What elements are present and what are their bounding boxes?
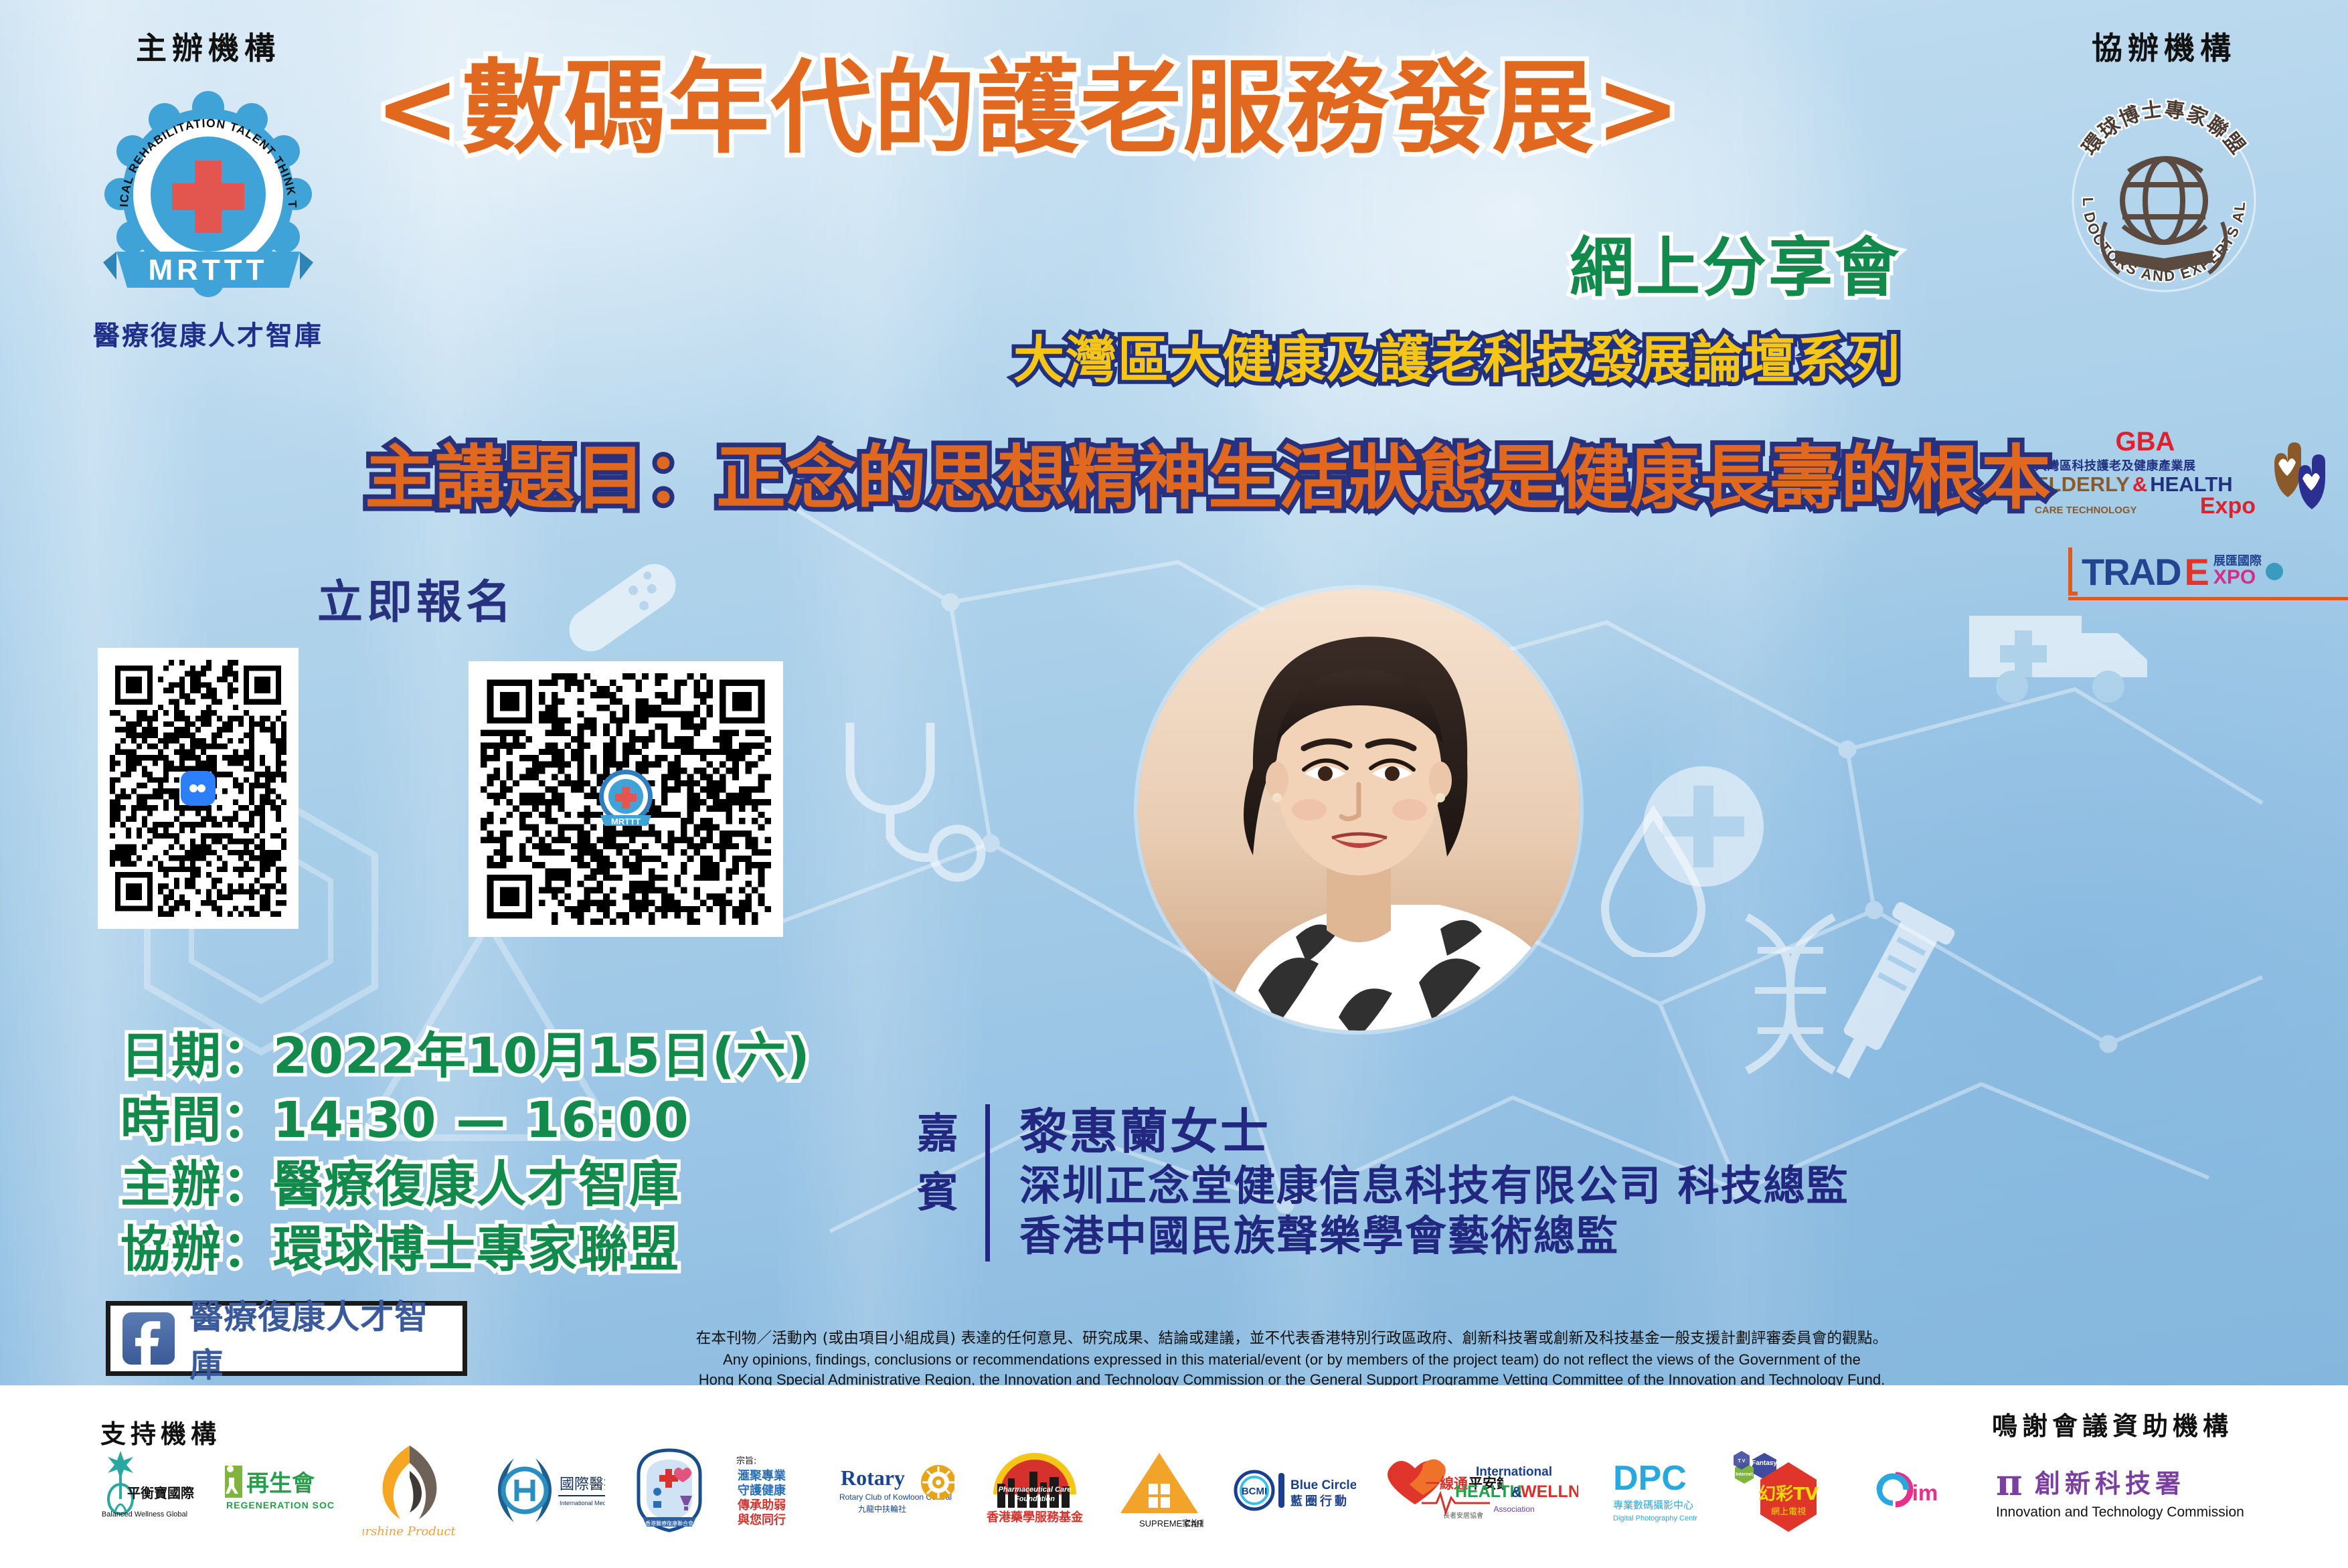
poster-topic-line: 主講題目：正念的思想精神生活狀態是健康長壽的根本 [201,443,2215,513]
fantasy-cn2: 網上電視 [1771,1507,1806,1517]
ambulance-icon [1961,589,2155,709]
speaker-tag-char-1: 嘉 [917,1104,960,1163]
logo-fantasy-tv: Fantasy Internet T V 幻彩TV 網上電視 [1730,1440,1835,1541]
dpc-abbr: DPC [1613,1459,1687,1498]
ihw-assoc: Association [1493,1504,1534,1514]
event-info-block: 日期：2022年10月15日(六) 時間：14:30 — 16:00 主辦：醫療… [120,1024,811,1282]
bcm-cn: 藍圈行動 [1290,1494,1349,1508]
svg-text:宗旨:: 宗旨: [736,1456,756,1466]
svg-text:Pharmaceutical Care: Pharmaceutical Care [999,1486,1072,1494]
support-logo-row: 平衡寶國際 Balanced Wellness Global 再生會 REGEN… [94,1440,1503,1541]
register-now-label: 立即報名 [317,565,515,631]
hkmra-cn: 香港醫療復康聯合會 [645,1520,693,1527]
logo-mission-statement: 宗旨: 滙聚專業 守護健康 傳承助弱 與您同行 [734,1440,809,1541]
mrttt-badge-icon: MRTTT [594,767,658,831]
trade-e: E [2185,550,2209,594]
speaker-tag: 嘉 賓 [917,1104,990,1261]
bcm-en: Blue Circle Movement [1290,1478,1356,1492]
zoom-badge-icon [181,771,216,806]
ihw-wellness: WELLNESS [1521,1482,1578,1501]
itc-cn: 創新科技署 [2035,1469,2185,1498]
speaker-tag-char-2: 賓 [917,1163,960,1222]
poster-subtitle: 網上分享會 [375,236,1901,300]
blood-drop-icon [1593,803,1713,957]
event-organiser-line: 主辦：醫療復康人才智庫 [120,1152,811,1217]
speaker-role-2: 香港中國民族聲樂學會藝術總監 [1019,1211,1849,1261]
dpc-cn: 專業數碼攝影中心 [1613,1499,1693,1511]
rotary-cn: 九龍中扶輪社 [858,1504,906,1514]
qr-code-zoom[interactable] [98,648,299,929]
mrttt-logo: MEDICAL REHABILITATION TALENT THINK TANK… [98,87,319,308]
event-coorganiser-line: 協辦：環球博士專家聯盟 [120,1217,811,1282]
stethoscope-icon [823,709,997,910]
logo-balanced-wellness-global: 平衡寶國際 Balanced Wellness Global [94,1440,194,1541]
funding-organisations-label: 鳴謝會議資助機構 [1992,1405,2233,1442]
event-date-line: 日期：2022年10月15日(六) [120,1024,811,1088]
organiser-block: 主辦機構 [64,24,352,353]
coorganiser-block: 協辦機構 環球博士專家聯盟 GLOBAL DOCTORS AND EXPERTS… [2020,24,2308,307]
two-hands-heart-icon [2261,436,2336,511]
svg-text:Rotary: Rotary [841,1466,905,1490]
go-im-text: im [1912,1480,1938,1505]
speaker-role-1: 深圳正念堂健康信息科技有限公司 科技總監 [1019,1160,1849,1211]
svg-text:MRTTT: MRTTT [611,816,641,826]
speaker-name: 黎惠蘭女士 [1019,1104,1849,1160]
organiser-label: 主辦機構 [64,24,352,68]
itc-en: Innovation and Technology Commission [1996,1504,2244,1520]
fantasy-cn: 幻彩TV [1758,1484,1819,1504]
disclaimer-block: 在本刊物／活動內 (或由項目小組成員) 表達的任何意見、研究成果、結論或建議，並… [636,1328,1948,1390]
svg-text:與您同行: 與您同行 [738,1512,786,1527]
logo-international-health-wellness: International HEALTH & WELLNESS Associat… [1450,1440,1578,1541]
poster-series-line: 大灣區大健康及護老科技發展論壇系列 [375,335,1901,385]
svg-text:環球博士專家聯盟: 環球博士專家聯盟 [2078,98,2250,159]
svg-text:守護健康: 守護健康 [738,1483,786,1498]
footer: 支持機構 鳴謝會議資助機構 平衡寶國際 Balanced Wellness Gl… [0,1385,2348,1568]
imc-cn: 國際醫療學院 [560,1476,605,1493]
tv-tag: T V [1738,1459,1746,1464]
trade-expo-logo: TRAD E 展匯國際 XPO [2068,547,2348,600]
pcf-cn: 香港藥學服務基金 [986,1510,1084,1525]
logo-hk-medical-rehab-association: 香港醫療復康聯合會 [633,1440,705,1541]
event-time-line: 時間：14:30 — 16:00 [120,1088,811,1152]
organiser-name-cn: 醫療復康人才智庫 [64,314,352,353]
trade-xpo: XPO [2213,568,2262,588]
speaker-portrait [1138,589,1580,1031]
logo-go-im: im [1867,1440,1961,1541]
logo-blue-circle-movement: BCMI Blue Circle Movement 藍圈行動 [1232,1440,1356,1541]
regen-cn: 再生會 [246,1470,315,1497]
logo-innovation-technology-commission: π 創新科技署 Innovation and Technology Commis… [1993,1440,2248,1541]
facebook-icon [122,1311,175,1366]
svg-text:傳承助弱: 傳承助弱 [737,1498,786,1512]
pill-icon [556,561,689,655]
funding-logo-row: International HEALTH & WELLNESS Associat… [1450,1440,2248,1541]
dpc-en: Digital Photography Centre [1613,1514,1697,1522]
qr-code-mrttt[interactable]: MRTTT [469,661,783,937]
starshine-en: Starshine Production [363,1525,456,1539]
logo-pharmaceutical-care-foundation: Pharmaceutical Care Foundation 香港藥學服務基金 [983,1440,1087,1541]
dna-helix-icon [1713,910,1867,1131]
disclaimer-en-line1: Any opinions, findings, conclusions or r… [636,1350,1948,1370]
logo-regeneration-society: 再生會 REGENERATION SOCIETY [222,1440,335,1541]
logo-rotary-club-kowloon-central: Rotary Rotary Club of Kowloon Central 九龍… [837,1440,954,1541]
facebook-page-name: 醫療復康人才智庫 [189,1290,450,1387]
bwg-en: Balanced Wellness Global [102,1510,187,1518]
logo-dpc: DPC 專業數碼攝影中心 Digital Photography Centre [1610,1440,1697,1541]
disclaimer-cn: 在本刊物／活動內 (或由項目小組成員) 表達的任何意見、研究成果、結論或建議，並… [636,1328,1948,1350]
event-poster: 主辦機構 [0,0,2348,1568]
syringe-icon [1807,890,1961,1104]
itc-symbol: π [1996,1461,2023,1504]
svg-text:Foundation: Foundation [1015,1495,1055,1503]
logo-international-medical-college: 國際醫療學院 International Medical Institute [485,1440,605,1541]
bwg-cn: 平衡寶國際 [127,1485,194,1501]
global-doctors-alliance-logo: 環球博士專家聯盟 GLOBAL DOCTORS AND EXPERTS ALLI… [2053,83,2274,304]
cross-in-circle-icon [1640,763,1767,890]
svg-text:BCMI: BCMI [1242,1486,1267,1497]
logo-starshine-production: Starshine Production [363,1440,456,1541]
coorganiser-label: 協辦機構 [2020,24,2308,68]
svg-text:滙聚專業: 滙聚專業 [738,1468,786,1483]
speaker-block: 嘉 賓 黎惠蘭女士 深圳正念堂健康信息科技有限公司 科技總監 香港中國民族聲樂學… [917,1104,1849,1261]
poster-title: <數碼年代的護老服務發展> [375,58,1995,159]
fantasy-tag: Fantasy [1752,1460,1777,1467]
facebook-page-badge[interactable]: 醫療復康人才智庫 [106,1301,467,1376]
imc-en: International Medical Institute [560,1500,605,1506]
svg-text:MRTTT: MRTTT [148,254,268,286]
supreme-cn: 家怡康 [1182,1518,1203,1529]
trade-word: TRAD [2082,550,2181,594]
regen-en: REGENERATION SOCIETY [226,1500,335,1510]
logo-supreme-care: SUPREME CARE 家怡康 [1115,1440,1203,1541]
ihw-line1: International [1476,1465,1552,1479]
internet-tag: Internet [1736,1472,1753,1477]
